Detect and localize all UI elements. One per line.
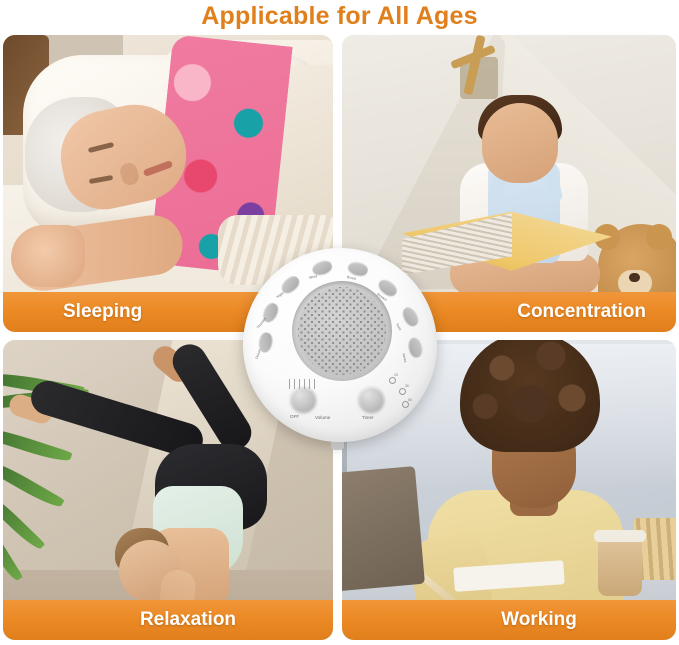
coffee-cup: [598, 538, 642, 596]
teddy-nose: [629, 273, 640, 282]
teddy-ear-right: [646, 224, 672, 250]
timer-option-30: 30: [405, 384, 409, 388]
caption-bar-working: Working: [342, 600, 676, 640]
white-noise-machine[interactable]: Ocean Thunder Night Wind Brook Stream Ra…: [243, 248, 437, 442]
coffee-cup-lid: [594, 530, 646, 542]
speaker-grill: [298, 287, 386, 375]
caption-label: Relaxation: [140, 609, 236, 631]
caption-bar-relaxation: Relaxation: [3, 600, 333, 640]
volume-label: Volume: [315, 415, 330, 420]
palm-leaf: [3, 424, 73, 465]
caption-label: Working: [501, 609, 577, 631]
timer-dot-60[interactable]: [402, 401, 409, 408]
timer-knob[interactable]: [359, 387, 384, 412]
timer-option-60: 60: [408, 398, 412, 402]
boy-head: [482, 103, 558, 183]
page-title: Applicable for All Ages: [0, 0, 679, 32]
timer-dot-15[interactable]: [389, 377, 396, 384]
hand: [11, 225, 85, 287]
timer-dot-30[interactable]: [399, 388, 406, 395]
off-label: OFF: [290, 414, 299, 419]
caption-label: Concentration: [517, 301, 646, 323]
caption-label: Sleeping: [63, 301, 142, 323]
timer-option-15: 15: [394, 373, 398, 377]
volume-tick-marks: [289, 379, 319, 389]
volume-knob[interactable]: [291, 387, 316, 412]
curly-hair-bun: [460, 340, 600, 452]
palm-leaf: [3, 457, 65, 511]
promo-banner: Applicable for All Ages: [0, 0, 679, 645]
laptop: [342, 466, 425, 592]
timer-label: Timer: [362, 415, 374, 420]
